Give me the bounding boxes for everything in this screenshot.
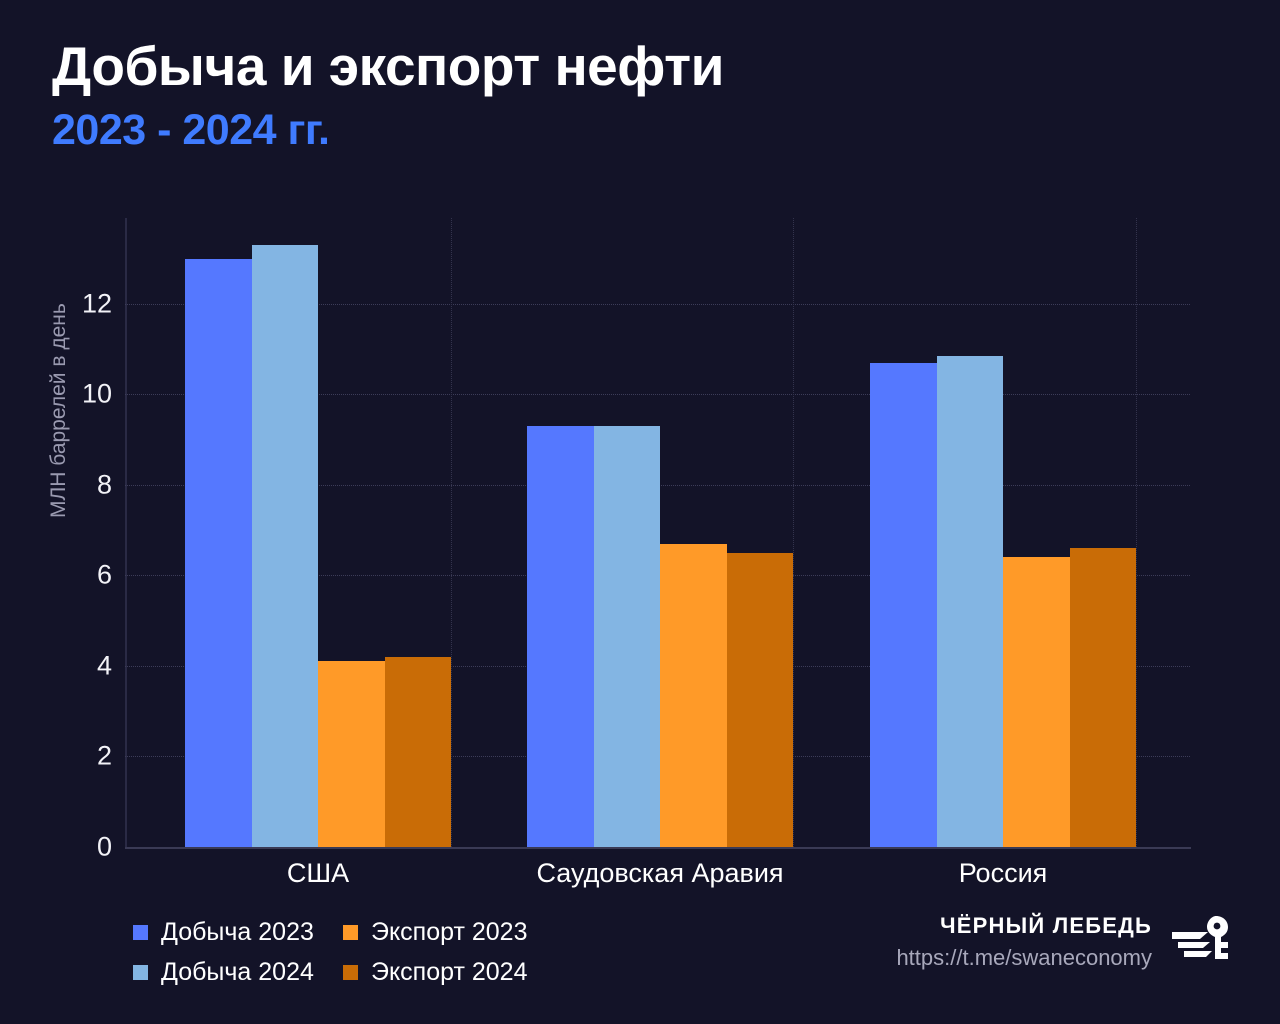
y-axis-tick-label: 4 (52, 650, 112, 681)
bar (185, 259, 252, 847)
x-axis-category-label: США (287, 858, 349, 889)
y-axis-tick-label: 6 (52, 560, 112, 591)
bar (727, 553, 794, 847)
bar (527, 426, 594, 847)
legend-label: Экспорт 2023 (371, 918, 528, 947)
brand-text-block: ЧЁРНЫЙ ЛЕБЕДЬ https://t.me/swaneconomy (896, 913, 1152, 971)
x-axis-category-label: Россия (959, 858, 1048, 889)
y-axis-tick-label: 8 (52, 469, 112, 500)
bar (252, 245, 319, 847)
vertical-gridline (451, 218, 452, 847)
chart-legend: Добыча 2023 Экспорт 2023 Добыча 2024 Экс… (133, 912, 753, 992)
bar (660, 544, 727, 847)
vertical-gridline (1136, 218, 1137, 847)
swan-logo-icon (1170, 912, 1232, 971)
y-axis-tick-label: 0 (52, 832, 112, 863)
branding: ЧЁРНЫЙ ЛЕБЕДЬ https://t.me/swaneconomy (896, 912, 1232, 971)
legend-label: Добыча 2023 (161, 918, 314, 947)
bar (594, 426, 661, 847)
bar-chart: МЛН баррелей в день 024681012 СШАСаудовс… (0, 0, 1280, 1024)
x-axis-line (125, 847, 1191, 849)
infographic-root: Добыча и экспорт нефти 2023 - 2024 гг. М… (0, 0, 1280, 1024)
legend-item-export-2024[interactable]: Экспорт 2024 (343, 958, 528, 987)
bar (870, 363, 937, 847)
vertical-gridline (793, 218, 794, 847)
brand-name: ЧЁРНЫЙ ЛЕБЕДЬ (896, 913, 1152, 939)
legend-label: Экспорт 2024 (371, 958, 528, 987)
legend-label: Добыча 2024 (161, 958, 314, 987)
y-axis-tick-label: 12 (52, 288, 112, 319)
plot-area: МЛН баррелей в день (125, 218, 1190, 847)
bar (1003, 557, 1070, 847)
legend-row: Добыча 2024 Экспорт 2024 (133, 952, 753, 992)
legend-swatch-production-2023 (133, 925, 148, 940)
brand-url[interactable]: https://t.me/swaneconomy (896, 945, 1152, 971)
legend-swatch-export-2023 (343, 925, 358, 940)
legend-swatch-production-2024 (133, 965, 148, 980)
bar (318, 661, 385, 847)
legend-swatch-export-2024 (343, 965, 358, 980)
legend-row: Добыча 2023 Экспорт 2023 (133, 912, 753, 952)
legend-item-production-2024[interactable]: Добыча 2024 (133, 958, 343, 987)
y-axis-tick-label: 10 (52, 379, 112, 410)
bar (385, 657, 452, 847)
y-axis-tick-label: 2 (52, 741, 112, 772)
bar (1070, 548, 1137, 847)
legend-item-export-2023[interactable]: Экспорт 2023 (343, 918, 528, 947)
legend-item-production-2023[interactable]: Добыча 2023 (133, 918, 343, 947)
bar (937, 356, 1004, 847)
x-axis-category-label: Саудовская Аравия (536, 858, 783, 889)
